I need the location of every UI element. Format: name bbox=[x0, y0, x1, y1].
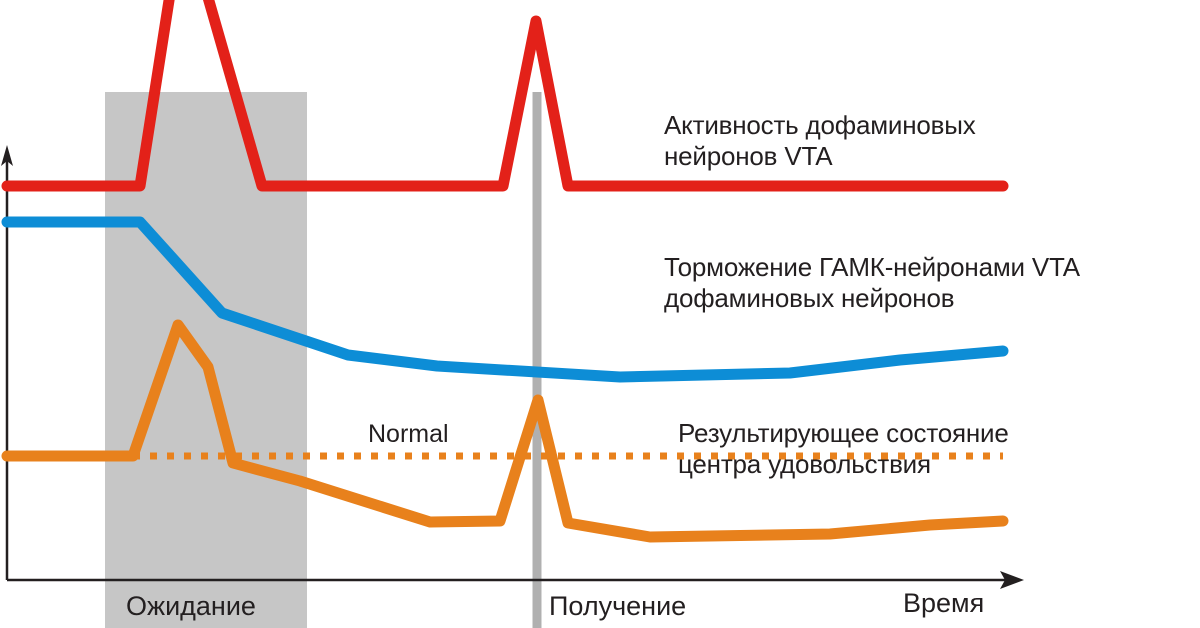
legend-label-dopamine-line2: нейронов VTA bbox=[664, 141, 832, 171]
legend-label-pleasure: Результирующее состояниецентра удовольст… bbox=[678, 418, 1009, 479]
legend-label-gaba: Торможение ГАМК-нейронами VTAдофаминовых… bbox=[664, 252, 1080, 313]
legend-label-pleasure-line1: Результирующее состояние bbox=[678, 418, 1009, 448]
x-axis-label: Время bbox=[903, 588, 984, 620]
phase-label-waiting: Ожидание bbox=[126, 591, 256, 623]
legend-label-gaba-line2: дофаминовых нейронов bbox=[664, 283, 954, 313]
legend-label-pleasure-line2: центра удовольствия bbox=[678, 449, 931, 479]
legend-label-gaba-line1: Торможение ГАМК-нейронами VTA bbox=[664, 252, 1080, 282]
figure-root: Активность дофаминовыхнейронов VTA Тормо… bbox=[0, 0, 1200, 628]
chart-canvas bbox=[0, 0, 1200, 628]
normal-baseline-label: Normal bbox=[368, 420, 449, 450]
legend-label-dopamine: Активность дофаминовыхнейронов VTA bbox=[664, 110, 976, 171]
legend-label-dopamine-line1: Активность дофаминовых bbox=[664, 110, 976, 140]
phase-label-receipt: Получение bbox=[549, 591, 686, 623]
